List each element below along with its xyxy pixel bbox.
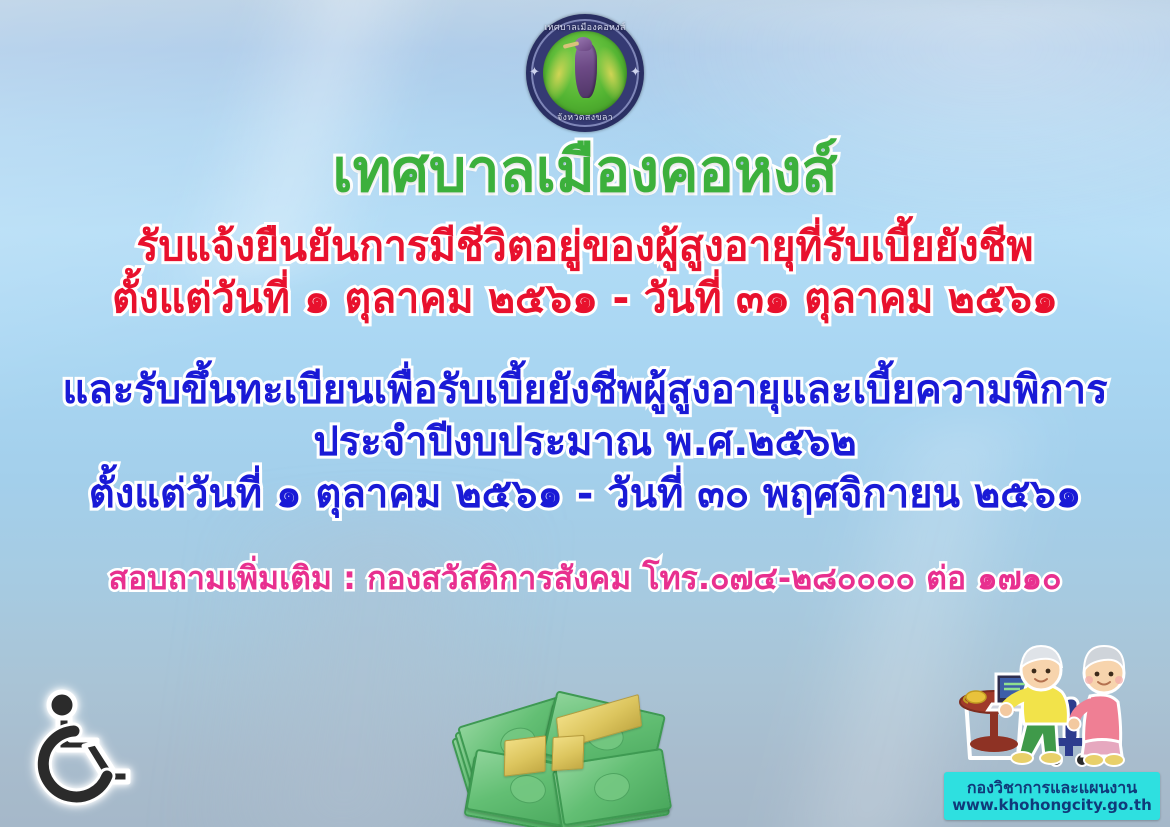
footer-website-banner[interactable]: กองวิชาการและแผนงาน www.khohongcity.go.t… [944,772,1160,820]
seal-emblem-field [543,31,627,115]
blue-line-3: ตั้งแต่วันที่ ๑ ตุลาคม ๒๕๖๑ - วันที่ ๓๐ … [0,468,1170,520]
elderly-couple-with-laptop-illustration [952,640,1152,772]
page-title: เทศบาลเมืองคอหงส์ [0,140,1170,202]
red-line-2: ตั้งแต่วันที่ ๑ ตุลาคม ๒๕๖๑ - วันที่ ๓๑ … [0,272,1170,324]
blue-line-2: ประจำปีงบประมาณ พ.ศ.๒๕๖๒ [0,416,1170,468]
banner-website-url[interactable]: www.khohongcity.go.th [952,797,1152,814]
blue-line-1: และรับขึ้นทะเบียนเพื่อรับเบี้ยยังชีพผู้ส… [0,364,1170,416]
seal-star-right-icon: ✦ [629,66,642,79]
contact-line: สอบถามเพิ่มเติม : กองสวัสดิการสังคม โทร.… [0,556,1170,600]
money-stack-icon [452,678,666,826]
announcement-text-block: เทศบาลเมืองคอหงส์ รับแจ้งยืนยันการมีชีวิ… [0,140,1170,600]
money-band-left [504,735,546,776]
laurel-wreath-left-icon [543,43,579,106]
poster-canvas: เทศบาลเมืองคอหงส์ จังหวัดสงขลา ✦ ✦ เทศบา… [0,0,1170,827]
money-band-center [551,735,584,771]
wheelchair-accessibility-icon [22,688,154,818]
seal-star-left-icon: ✦ [528,66,541,79]
red-line-1: รับแจ้งยืนยันการมีชีวิตอยู่ของผู้สูงอายุ… [0,220,1170,272]
banner-department-label: กองวิชาการและแผนงาน [967,779,1137,797]
municipality-logo: เทศบาลเมืองคอหงส์ จังหวัดสงขลา ✦ ✦ [512,14,658,132]
